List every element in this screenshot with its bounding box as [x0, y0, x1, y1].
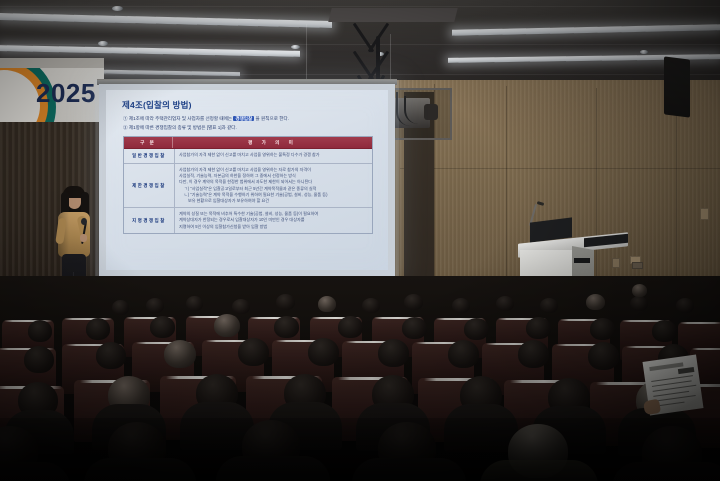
table-row-body: 사업참가의 자격 제한 없이 신고를 마치고 사업을 영위하는 자로 참가의 자… — [175, 164, 372, 207]
audience-head — [276, 294, 295, 310]
audience-head — [28, 320, 52, 342]
audience-head — [586, 294, 605, 310]
audience-head — [464, 318, 489, 340]
slide-bullet-1: ① 제1조에 따라 주택관리업자 및 사업자를 선정할 때에는 경쟁입찰 을 원… — [123, 115, 373, 123]
audience-shoulders — [444, 404, 518, 452]
audience-head — [274, 316, 299, 338]
recessed-light-icon — [291, 45, 300, 49]
microphone-icon — [537, 201, 545, 206]
audience-head — [232, 299, 250, 314]
audience-head — [590, 318, 615, 340]
audience-head — [146, 298, 164, 313]
table-header-cell: 평 가 의 미 — [173, 137, 372, 148]
audience-head — [318, 296, 336, 312]
audience-head — [362, 298, 380, 313]
table-header-cell: 구 분 — [124, 137, 173, 148]
table-cell-line: 지명하여 5인 이상의 입찰참가신청을 받아 입찰 방법 — [179, 224, 368, 230]
recessed-light-icon — [640, 50, 648, 54]
table-row: 제한경쟁입찰 사업참가의 자격 제한 없이 신고를 마치고 사업을 영위하는 자… — [124, 164, 372, 208]
slide-bullet-list: ① 제1조에 따라 주택관리업자 및 사업자를 선정할 때에는 경쟁입찰 을 원… — [123, 115, 373, 132]
table-header-row: 구 분 평 가 의 미 — [124, 137, 372, 149]
wall-speaker — [664, 56, 690, 117]
audience-head — [526, 317, 551, 339]
audience-head — [238, 338, 269, 366]
recessed-light-icon — [98, 41, 108, 46]
audience-head — [496, 296, 514, 311]
slide-title: 제4조(입찰의 방법) — [122, 99, 192, 111]
audience-head — [452, 298, 470, 313]
audience-head — [630, 296, 648, 311]
projection-screen: 제4조(입찰의 방법) ① 제1조에 따라 주택관리업자 및 사업자를 선정할 … — [99, 84, 395, 276]
table-row-label: 지명경쟁입찰 — [124, 208, 175, 233]
table-row-label: 일반경쟁입찰 — [124, 149, 175, 163]
projector-lens-icon — [424, 104, 438, 120]
audience-head — [518, 340, 549, 368]
table-cell-line: 보유 현황으로 입찰대상자가 보유하여야 할 요건 — [179, 198, 368, 204]
event-banner: 2025 — [0, 66, 104, 122]
podium-panel-strip — [574, 258, 590, 263]
table-row: 일반경쟁입찰 사업참가의 자격 제한 없이 신고를 마치고 사업을 영위하는 불… — [124, 149, 372, 164]
microphone-icon — [81, 218, 87, 225]
audience-shoulders — [612, 462, 720, 481]
audience-shoulders — [216, 456, 330, 481]
audience-head — [24, 346, 54, 373]
table-row: 지명경쟁입찰 계약의 성질 또는 목적에 비추어 특수한 기술(공법, 설비, … — [124, 208, 372, 233]
audience-head — [96, 342, 126, 369]
auditorium-scene: 2025 제4조(입찰의 방법) ① 제1조에 따라 주택관리업자 및 사업자를… — [0, 0, 720, 481]
audience-head — [448, 340, 479, 368]
audience-head — [540, 298, 558, 313]
audience-head — [402, 317, 427, 339]
slide-content: 제4조(입찰의 방법) ① 제1조에 따라 주택관리업자 및 사업자를 선정할 … — [106, 90, 388, 270]
table-row-body: 계약의 성질 또는 목적에 비추어 특수한 기술(공법, 설비, 성능, 물품 … — [175, 208, 372, 233]
audience-head — [86, 318, 110, 340]
audience-head — [214, 314, 240, 337]
audience-shoulders — [480, 460, 598, 481]
audience-head — [378, 339, 409, 367]
audience-head — [404, 294, 423, 310]
presenter-hand — [80, 234, 87, 242]
slide-table: 구 분 평 가 의 미 일반경쟁입찰 사업참가의 자격 제한 없이 신고를 마치… — [123, 136, 373, 234]
audience-shoulders — [84, 458, 196, 481]
slide-highlight: 경쟁입찰 — [233, 116, 254, 121]
audience-shoulders — [352, 458, 466, 481]
audience-head — [164, 340, 196, 368]
banner-year-text: 2025 — [36, 78, 96, 109]
audience-head — [150, 316, 175, 338]
wall-outlet-plate — [700, 208, 709, 220]
recessed-light-icon — [112, 6, 123, 11]
audience-head — [652, 320, 677, 342]
banner-rail — [0, 58, 104, 68]
audience-head — [338, 316, 363, 338]
table-row-body: 사업참가의 자격 제한 없이 신고를 마치고 사업을 영위하는 불특정 다수가 … — [175, 149, 372, 163]
audience-head — [632, 284, 647, 297]
audience-head — [186, 296, 203, 311]
slide-bullet-2: ② 제1항에 따른 경쟁입찰의 종류 및 방법은 [별표 1]과 같다. — [123, 124, 373, 132]
table-cell-line: 사업참가의 자격 제한 없이 신고를 마치고 사업을 영위하는 불특정 다수가 … — [179, 152, 368, 158]
audience-head — [588, 342, 619, 370]
audience-hand — [643, 399, 661, 416]
audience-head — [676, 298, 694, 313]
audience-area — [0, 276, 720, 481]
audience-head — [112, 300, 129, 315]
table-row-label: 제한경쟁입찰 — [124, 164, 175, 207]
audience-head — [308, 338, 339, 366]
audience-shoulders — [0, 462, 70, 481]
